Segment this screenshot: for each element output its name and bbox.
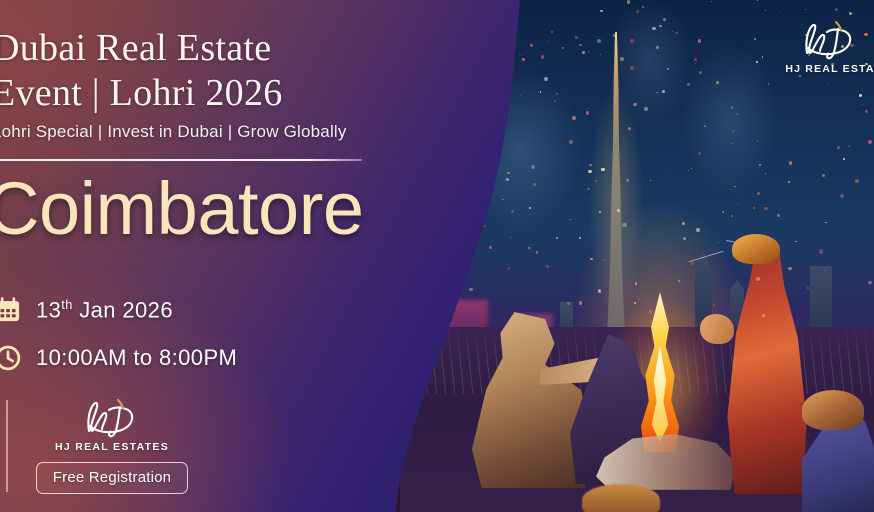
hj-monogram-icon	[770, 16, 874, 62]
free-registration-button[interactable]: Free Registration	[36, 462, 188, 494]
tagline: Lohri Special | Invest in Dubai | Grow G…	[0, 122, 422, 142]
brand-name: HJ REAL ESTA	[770, 63, 874, 75]
event-time: 10:00AM to 8:00PM	[36, 345, 237, 371]
calendar-icon	[0, 296, 22, 324]
event-date-row: 13th Jan 2026	[0, 292, 237, 328]
divider	[0, 159, 362, 161]
banner-content: Dubai Real Estate Event | Lohri 2026 Loh…	[0, 0, 540, 512]
page-title: Dubai Real Estate Event | Lohri 2026	[0, 26, 412, 116]
event-details: 13th Jan 2026 10:00AM to 8:00PM	[0, 292, 237, 376]
figure-hand	[700, 314, 734, 344]
hj-monogram-icon	[22, 394, 202, 440]
turban-icon	[802, 390, 864, 430]
brand-block: HJ REAL ESTATES Free Registration	[22, 394, 202, 494]
event-date: 13th Jan 2026	[36, 297, 173, 323]
clock-icon	[0, 344, 22, 372]
brand-name: HJ REAL ESTATES	[22, 441, 202, 453]
brand-block-top-right: HJ REAL ESTA	[770, 16, 874, 75]
offering-basket	[582, 484, 660, 512]
city-name: Coimbatore	[0, 172, 506, 246]
vertical-rule	[6, 400, 8, 492]
event-banner: Dubai Real Estate Event | Lohri 2026 Loh…	[0, 0, 874, 512]
turban-icon	[732, 234, 780, 264]
event-time-row: 10:00AM to 8:00PM	[0, 340, 237, 376]
